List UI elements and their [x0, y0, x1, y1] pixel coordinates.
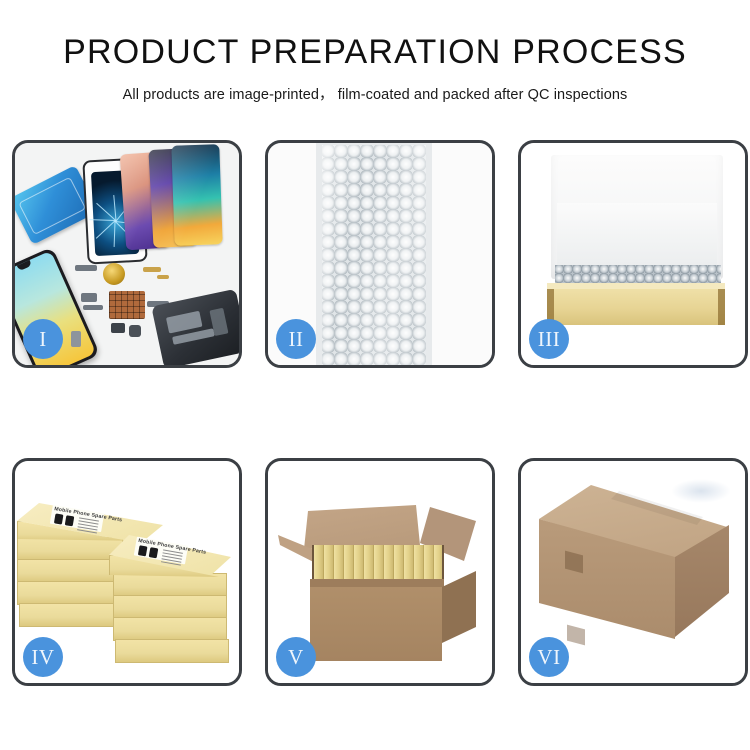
- panel-step-4[interactable]: Mobile Phone Spare Parts Mobile Phone Sp…: [12, 458, 242, 686]
- part-flex-cable-1: [143, 267, 161, 272]
- panel-step-5[interactable]: V: [265, 458, 495, 686]
- carton-side-face: [442, 571, 476, 643]
- part-speaker: [81, 293, 97, 302]
- kraft-box-front-icon: [547, 289, 725, 325]
- carton-front-face: [310, 587, 442, 661]
- foam-sheet-icon: [557, 203, 717, 265]
- ic-chip-part-icon: [109, 291, 145, 319]
- phone-teal-gradient-icon: [171, 144, 222, 246]
- step-badge-4: IV: [23, 637, 63, 677]
- part-button-flex: [83, 305, 103, 310]
- panel-step-1[interactable]: I: [12, 140, 242, 368]
- panel-step-3[interactable]: III: [518, 140, 748, 368]
- product-preparation-infographic: PRODUCT PREPARATION PROCESS All products…: [0, 0, 750, 750]
- step-badge-1: I: [23, 319, 63, 359]
- part-vibrator: [111, 323, 125, 333]
- step-badge-2: II: [276, 319, 316, 359]
- page-title: PRODUCT PREPARATION PROCESS: [0, 0, 750, 72]
- panel-step-2[interactable]: II: [265, 140, 495, 368]
- part-camera-module: [75, 265, 97, 271]
- panel-step-6[interactable]: VI: [518, 458, 748, 686]
- step-badge-5: V: [276, 637, 316, 677]
- header: PRODUCT PREPARATION PROCESS All products…: [0, 0, 750, 104]
- plastic-sheen-overlay: [322, 145, 426, 365]
- step-badge-3: III: [529, 319, 569, 359]
- carton-tape-mark-bottom: [567, 625, 585, 646]
- backdrop-shadow: [671, 479, 731, 503]
- part-sim-tray: [71, 331, 81, 347]
- page-subtitle: All products are image-printed， film-coa…: [0, 72, 750, 104]
- part-home-button: [129, 325, 141, 337]
- carton-flap-back: [304, 505, 420, 549]
- part-flex-cable-2: [157, 275, 169, 279]
- wireless-coil-part-icon: [103, 263, 125, 285]
- step-badge-6: VI: [529, 637, 569, 677]
- process-grid: I II III: [12, 140, 739, 686]
